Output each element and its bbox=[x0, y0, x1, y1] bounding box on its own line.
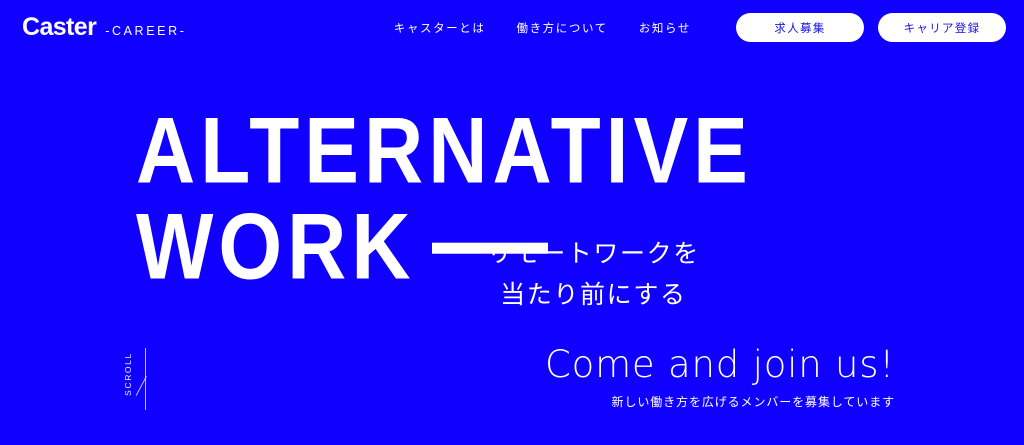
site-header: Caster -CAREER- キャスターとは 働き方について お知らせ 求人募… bbox=[0, 0, 1024, 55]
header-actions: 求人募集 キャリア登録 bbox=[736, 13, 1006, 42]
hero-subhead: リモートワークを 当たり前にする bbox=[487, 234, 700, 315]
hero-page: { "theme": { "background": "#1000FF", "f… bbox=[0, 0, 1024, 445]
join-us-title: Come and join us! bbox=[545, 344, 895, 385]
hero-subhead-line-1: リモートワークを bbox=[487, 234, 700, 275]
nav-item-about[interactable]: キャスターとは bbox=[394, 14, 486, 42]
nav-item-news[interactable]: お知らせ bbox=[639, 14, 691, 42]
hero-headline-line-1: ALTERNATIVE bbox=[136, 104, 753, 200]
site-logo[interactable]: Caster -CAREER- bbox=[22, 15, 186, 40]
scroll-indicator[interactable]: SCROLL bbox=[118, 348, 164, 410]
logo-tagline: -CAREER- bbox=[105, 25, 186, 38]
main-nav: キャスターとは 働き方について お知らせ bbox=[394, 14, 691, 42]
hero-subhead-line-2: 当たり前にする bbox=[487, 275, 700, 316]
logo-wordmark: Caster bbox=[22, 15, 96, 40]
join-us-tagline: 新しい働き方を広げるメンバーを募集しています bbox=[545, 394, 895, 411]
job-openings-button[interactable]: 求人募集 bbox=[736, 13, 864, 42]
join-us-block: Come and join us! 新しい働き方を広げるメンバーを募集しています bbox=[545, 344, 895, 411]
hero-headline-line-2: WORK bbox=[136, 200, 416, 296]
nav-item-work-style[interactable]: 働き方について bbox=[516, 14, 607, 42]
scroll-label: SCROLL bbox=[123, 352, 133, 396]
career-register-button[interactable]: キャリア登録 bbox=[878, 13, 1006, 42]
